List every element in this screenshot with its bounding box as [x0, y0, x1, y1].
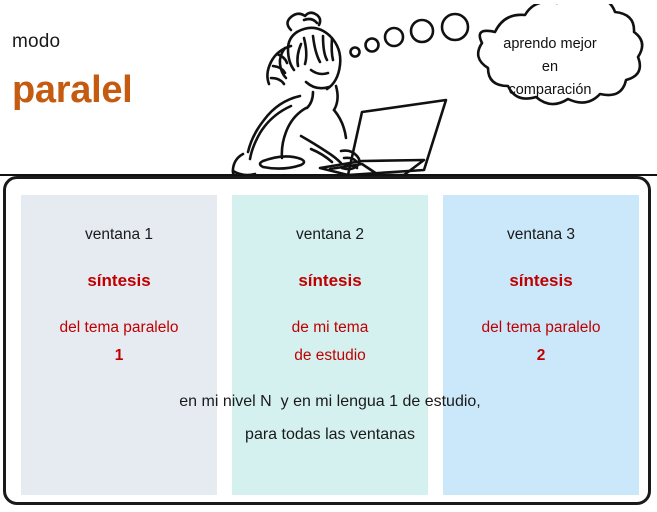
window-body-2-line-2: de estudio [232, 342, 428, 370]
window-body-1-line-2: 1 [21, 342, 217, 370]
thought-bubble-line-3: comparación [463, 79, 637, 102]
thought-bubble-line-2: en [463, 56, 637, 79]
window-body-3: del tema paralelo 2 [443, 314, 639, 370]
page-title: paralel [12, 68, 132, 112]
panel-footer-note: en mi nivel N y en mi lengua 1 de estudi… [21, 385, 639, 451]
window-label-2: ventana 2 [232, 225, 428, 244]
window-body-2: de mi tema de estudio [232, 314, 428, 370]
window-body-1: del tema paralelo 1 [21, 314, 217, 370]
window-body-1-line-1: del tema paralelo [21, 314, 217, 342]
window-label-3: ventana 3 [443, 225, 639, 244]
window-label-1: ventana 1 [21, 225, 217, 244]
window-heading-3: síntesis [443, 270, 639, 291]
panel-footer-line-2: para todas las ventanas [21, 418, 639, 451]
window-body-3-line-2: 2 [443, 342, 639, 370]
panel-footer-line-1: en mi nivel N y en mi lengua 1 de estudi… [21, 385, 639, 418]
thought-bubble-line-1: aprendo mejor [463, 33, 637, 56]
window-heading-1: síntesis [21, 270, 217, 291]
window-body-2-line-1: de mi tema [232, 314, 428, 342]
mode-label: modo [12, 31, 60, 53]
windows-panel: ventana 1 síntesis del tema paralelo 1 v… [3, 176, 651, 505]
header-area: modo paralel [0, 0, 657, 176]
window-body-3-line-1: del tema paralelo [443, 314, 639, 342]
thought-bubble-text: aprendo mejor en comparación [463, 33, 637, 102]
window-heading-2: síntesis [232, 270, 428, 291]
